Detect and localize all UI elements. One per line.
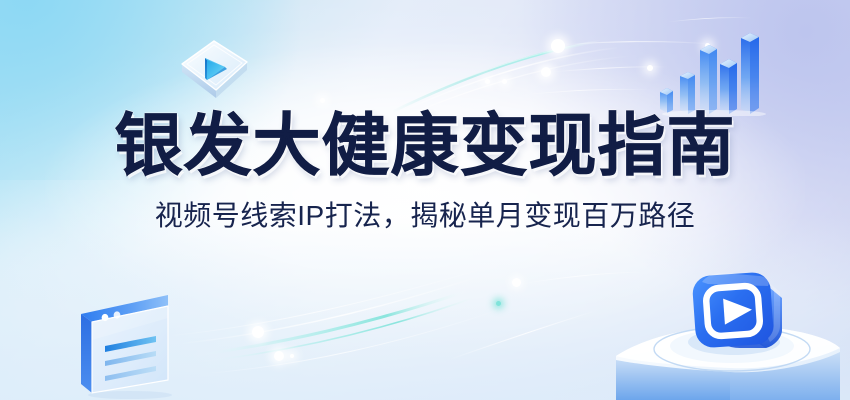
glow-dot bbox=[551, 39, 565, 53]
glow-dot bbox=[290, 354, 294, 358]
glow-dot bbox=[541, 67, 551, 77]
pedestal-platform bbox=[610, 268, 840, 400]
glow-dot bbox=[512, 278, 521, 287]
glow-dot bbox=[485, 79, 490, 84]
page-title: 银发大健康变现指南 bbox=[0, 112, 850, 180]
browser-window-icon[interactable] bbox=[72, 288, 180, 400]
page-subtitle: 视频号线索IP打法，揭秘单月变现百万路径 bbox=[0, 202, 850, 230]
glow-dot bbox=[252, 326, 264, 338]
glow-dot bbox=[647, 65, 653, 71]
play-card-icon[interactable] bbox=[176, 38, 252, 108]
glow-dot bbox=[496, 301, 501, 306]
bar-chart-graphic bbox=[656, 24, 766, 116]
title-block: 银发大健康变现指南 视频号线索IP打法，揭秘单月变现百万路径 bbox=[0, 112, 850, 230]
glow-dot bbox=[274, 351, 284, 361]
glow-dot bbox=[320, 98, 325, 103]
promo-banner: 银发大健康变现指南 视频号线索IP打法，揭秘单月变现百万路径 bbox=[0, 0, 850, 400]
glow-dot bbox=[502, 79, 507, 84]
